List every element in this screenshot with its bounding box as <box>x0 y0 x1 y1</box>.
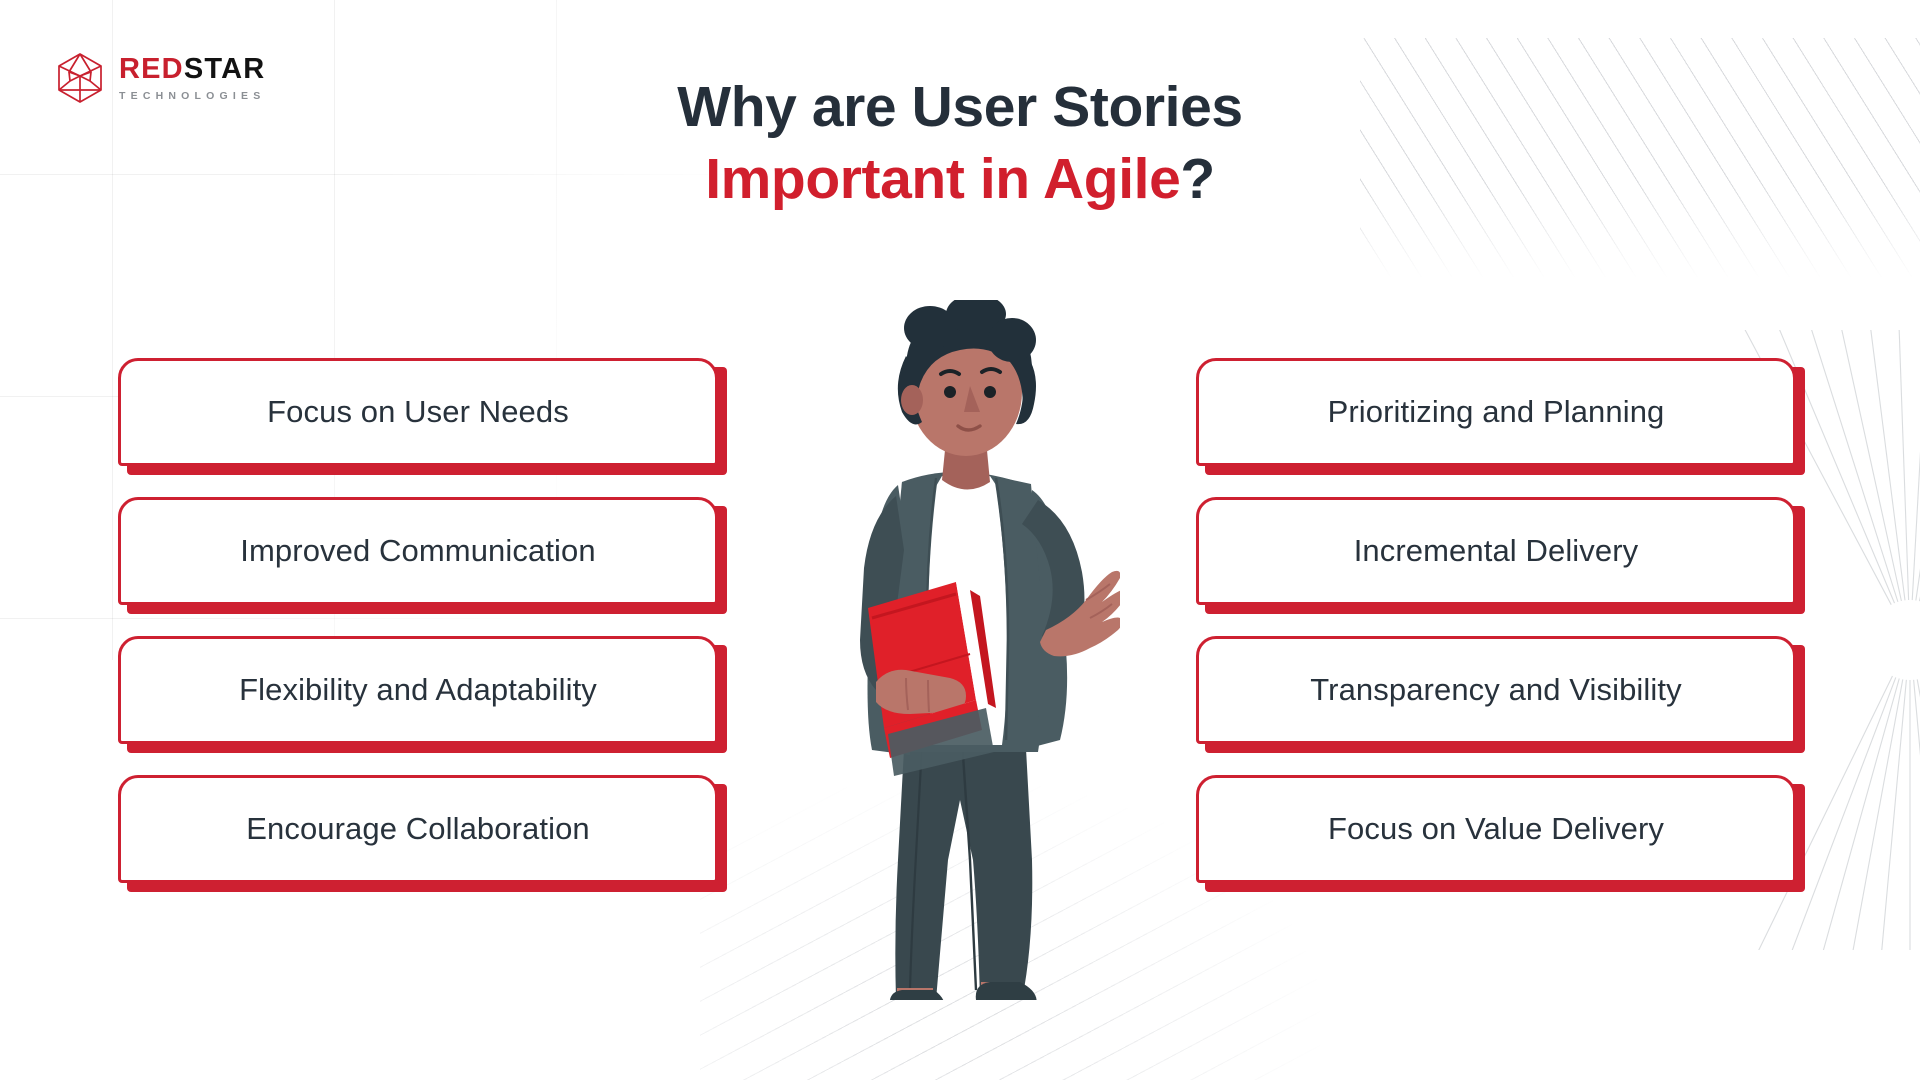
card-prioritizing-and-planning[interactable]: Prioritizing and Planning <box>1196 358 1796 466</box>
card-label: Prioritizing and Planning <box>1328 394 1665 430</box>
right-card-column: Prioritizing and Planning Incremental De… <box>1196 358 1796 883</box>
card-label: Encourage Collaboration <box>246 811 590 847</box>
card-label: Focus on User Needs <box>267 394 569 430</box>
card-transparency-and-visibility[interactable]: Transparency and Visibility <box>1196 636 1796 744</box>
card-body[interactable]: Encourage Collaboration <box>118 775 718 883</box>
left-card-column: Focus on User Needs Improved Communicati… <box>118 358 718 883</box>
card-body[interactable]: Focus on User Needs <box>118 358 718 466</box>
card-body[interactable]: Improved Communication <box>118 497 718 605</box>
card-label: Incremental Delivery <box>1354 533 1639 569</box>
card-body[interactable]: Flexibility and Adaptability <box>118 636 718 744</box>
card-body[interactable]: Incremental Delivery <box>1196 497 1796 605</box>
card-body[interactable]: Transparency and Visibility <box>1196 636 1796 744</box>
card-label: Transparency and Visibility <box>1310 672 1681 708</box>
card-label: Focus on Value Delivery <box>1328 811 1664 847</box>
card-flexibility-and-adaptability[interactable]: Flexibility and Adaptability <box>118 636 718 744</box>
card-label: Flexibility and Adaptability <box>239 672 597 708</box>
title-line-2-accent: Important in Agile <box>705 147 1180 211</box>
card-label: Improved Communication <box>240 533 595 569</box>
card-improved-communication[interactable]: Improved Communication <box>118 497 718 605</box>
card-body[interactable]: Focus on Value Delivery <box>1196 775 1796 883</box>
card-body[interactable]: Prioritizing and Planning <box>1196 358 1796 466</box>
title-question-mark: ? <box>1180 147 1214 211</box>
woman-presenting-with-book-illustration <box>810 300 1120 1000</box>
card-incremental-delivery[interactable]: Incremental Delivery <box>1196 497 1796 605</box>
title-line-1: Why are User Stories <box>0 72 1920 144</box>
card-encourage-collaboration[interactable]: Encourage Collaboration <box>118 775 718 883</box>
card-focus-on-user-needs[interactable]: Focus on User Needs <box>118 358 718 466</box>
page-title: Why are User Stories Important in Agile? <box>0 72 1920 216</box>
card-focus-on-value-delivery[interactable]: Focus on Value Delivery <box>1196 775 1796 883</box>
